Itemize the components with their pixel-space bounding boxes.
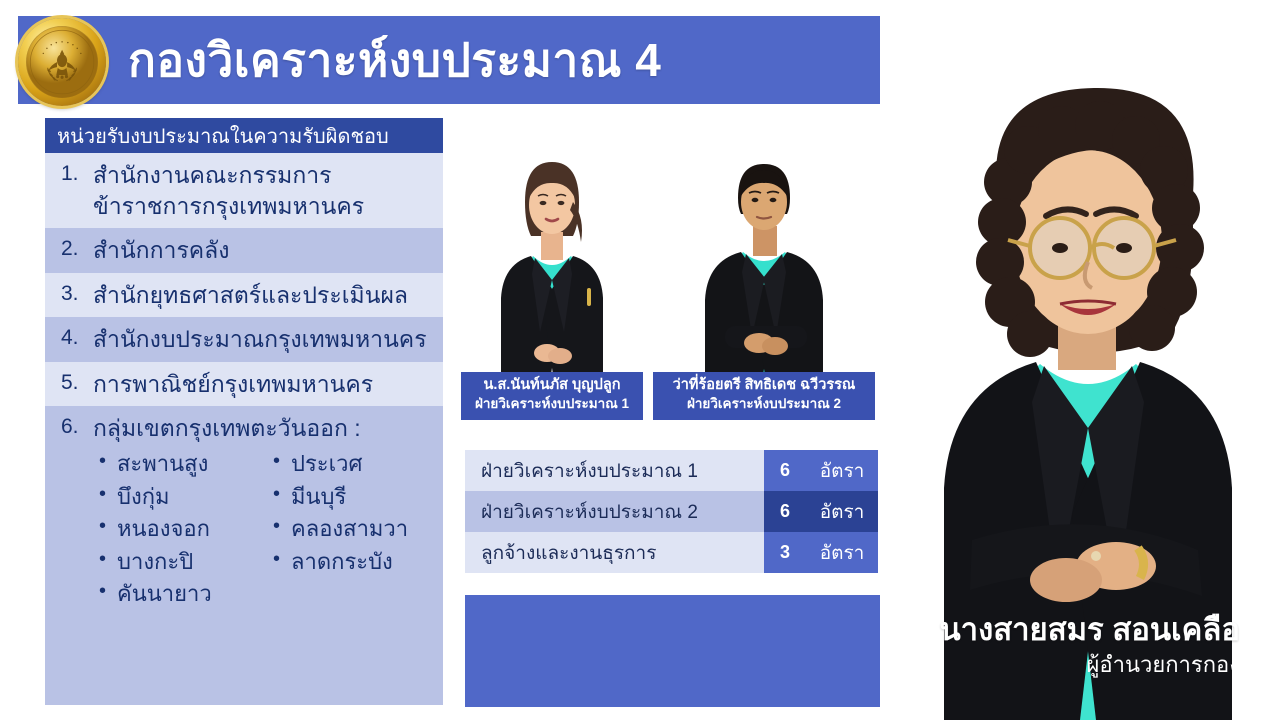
unit-label: สำนักงานคณะกรรมการ ข้าราชการกรุงเทพมหานค…	[93, 160, 435, 221]
page-title: กองวิเคราะห์งบประมาณ 4	[128, 22, 661, 98]
unit-row[interactable]: 2. สำนักการคลัง	[45, 228, 443, 273]
staff-portrait-female-icon	[461, 140, 643, 375]
district-lists: สะพานสูง บึงกุ่ม หนองจอก บางกะปิ คันนายา…	[97, 448, 435, 611]
district-column-2: ประเวศ มีนบุรี คลองสามวา ลาดกระบัง	[271, 448, 431, 611]
list-item[interactable]: บึงกุ่ม	[97, 481, 257, 514]
list-item[interactable]: ประเวศ	[271, 448, 431, 481]
unit-row-districts[interactable]: 6. กลุ่มเขตกรุงเทพตะวันออก : สะพานสูง บึ…	[45, 406, 443, 617]
staff-name: ว่าที่ร้อยตรี สิทธิเดช ฉวีวรรณ	[659, 376, 869, 395]
unit-number: 5.	[55, 369, 93, 397]
unit-number: 6.	[55, 413, 93, 441]
list-item[interactable]: มีนบุรี	[271, 481, 431, 514]
list-item[interactable]: คลองสามวา	[271, 513, 431, 546]
list-item[interactable]: ลาดกระบัง	[271, 546, 431, 579]
slide-root: กองวิเคราะห์งบประมาณ 4 หน่วยรับงบประมาณใ…	[0, 0, 1280, 720]
headcount-unit: อัตรา	[806, 450, 878, 491]
unit-number: 2.	[55, 235, 93, 263]
staff-photo-2	[653, 140, 875, 375]
headcount-count: 3	[764, 532, 806, 573]
headcount-table: ฝ่ายวิเคราะห์งบประมาณ 1 6 อัตรา ฝ่ายวิเค…	[465, 450, 878, 573]
district-column-1: สะพานสูง บึงกุ่ม หนองจอก บางกะปิ คันนายา…	[97, 448, 257, 611]
unit-panel-header: หน่วยรับงบประมาณในความรับผิดชอบ	[45, 118, 443, 153]
table-row[interactable]: ฝ่ายวิเคราะห์งบประมาณ 1 6 อัตรา	[465, 450, 878, 491]
unit-number: 1.	[55, 160, 93, 188]
list-item[interactable]: คันนายาว	[97, 578, 257, 611]
headcount-count: 6	[764, 491, 806, 532]
staff-portrait-male-icon	[653, 140, 875, 375]
staff-photo-1	[461, 140, 643, 375]
unit-row[interactable]: 5. การพาณิชย์กรุงเทพมหานคร	[45, 362, 443, 407]
unit-row[interactable]: 1. สำนักงานคณะกรรมการ ข้าราชการกรุงเทพมห…	[45, 153, 443, 228]
headcount-count: 6	[764, 450, 806, 491]
bma-gold-seal-icon	[18, 18, 106, 106]
unit-label: สำนักการคลัง	[93, 235, 435, 266]
headcount-unit: อัตรา	[806, 532, 878, 573]
unit-label-line-2: ข้าราชการกรุงเทพมหานคร	[93, 191, 435, 222]
responsible-units-panel: หน่วยรับงบประมาณในความรับผิดชอบ 1. สำนัก…	[45, 118, 443, 705]
headcount-unit: อัตรา	[806, 491, 878, 532]
unit-label: กลุ่มเขตกรุงเทพตะวันออก :	[93, 413, 435, 444]
list-item[interactable]: หนองจอก	[97, 513, 257, 546]
director-role: ผู้อำนวยการกอง	[939, 651, 1240, 680]
unit-number: 4.	[55, 324, 93, 352]
staff-name-plate-2: ว่าที่ร้อยตรี สิทธิเดช ฉวีวรรณ ฝ่ายวิเคร…	[653, 372, 875, 420]
staff-department: ฝ่ายวิเคราะห์งบประมาณ 2	[659, 395, 869, 412]
list-item[interactable]: บางกะปิ	[97, 546, 257, 579]
staff-name-plate-1: น.ส.นันท์นภัส บุญปลูก ฝ่ายวิเคราะห์งบประ…	[461, 372, 643, 420]
headcount-label: ลูกจ้างและงานธุรการ	[465, 532, 764, 573]
table-row[interactable]: ฝ่ายวิเคราะห์งบประมาณ 2 6 อัตรา	[465, 491, 878, 532]
unit-label: การพาณิชย์กรุงเทพมหานคร	[93, 369, 435, 400]
director-name: นางสายสมร สอนเคลือ	[939, 612, 1240, 649]
unit-label: สำนักงบประมาณกรุงเทพมหานคร	[93, 324, 435, 355]
unit-number: 3.	[55, 280, 93, 308]
staff-department: ฝ่ายวิเคราะห์งบประมาณ 1	[467, 395, 637, 412]
unit-row[interactable]: 4. สำนักงบประมาณกรุงเทพมหานคร	[45, 317, 443, 362]
director-name-block: นางสายสมร สอนเคลือ ผู้อำนวยการกอง	[939, 612, 1240, 679]
headcount-label: ฝ่ายวิเคราะห์งบประมาณ 1	[465, 450, 764, 491]
table-row[interactable]: ลูกจ้างและงานธุรการ 3 อัตรา	[465, 532, 878, 573]
list-item[interactable]: สะพานสูง	[97, 448, 257, 481]
staff-name: น.ส.นันท์นภัส บุญปลูก	[467, 376, 637, 395]
unit-row[interactable]: 3. สำนักยุทธศาสตร์และประเมินผล	[45, 273, 443, 318]
headcount-label: ฝ่ายวิเคราะห์งบประมาณ 2	[465, 491, 764, 532]
unit-label: สำนักยุทธศาสตร์และประเมินผล	[93, 280, 435, 311]
unit-label-line-1: สำนักงานคณะกรรมการ	[93, 160, 435, 191]
